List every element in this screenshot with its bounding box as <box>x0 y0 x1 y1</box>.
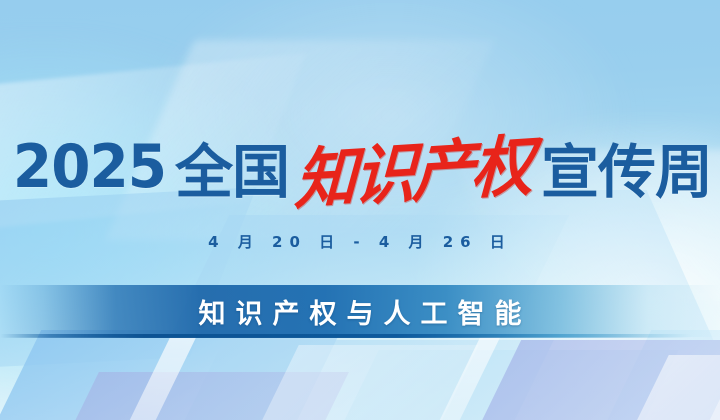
date-range: 4 月 20 日 - 4 月 26 日 <box>0 231 720 252</box>
title-highlight: 知识产权 <box>293 112 533 222</box>
banner-title: 2025 全国 知识产权 宣传周 <box>0 126 720 208</box>
title-nationwide: 全国 <box>175 125 289 209</box>
title-year: 2025 <box>13 132 166 202</box>
subtitle-text: 知识产权与人工智能 <box>0 285 720 337</box>
title-suffix: 宣传周 <box>541 125 712 209</box>
ip-week-promo-banner: 2025 全国 知识产权 宣传周 4 月 20 日 - 4 月 26 日 知识产… <box>0 0 720 420</box>
